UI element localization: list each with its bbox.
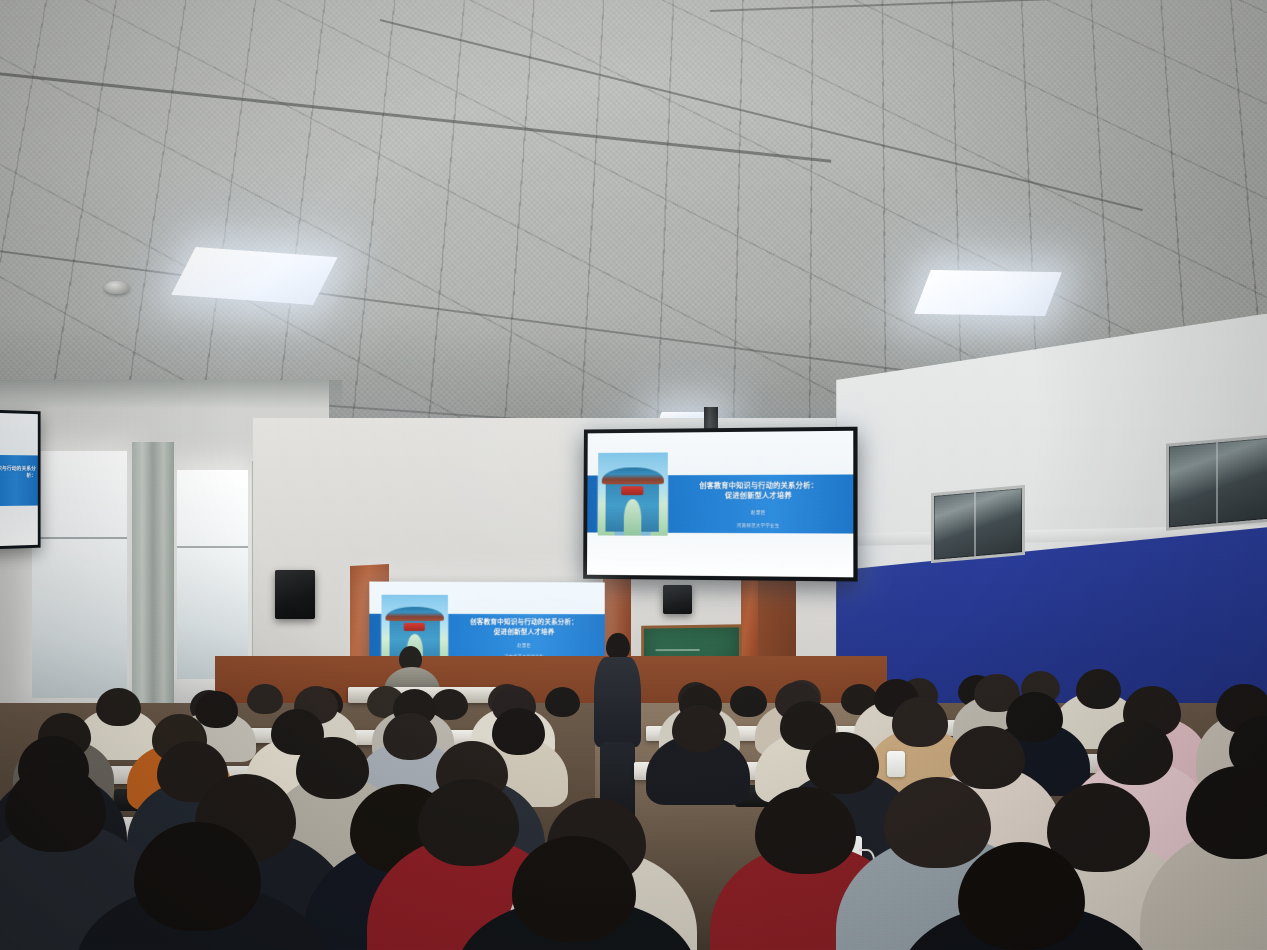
slide-title: 创客教育中知识与行动的关系分析： 促进创新型人才培养 bbox=[450, 619, 597, 637]
tv-bezel: 创客教育中知识与行动的关系分析： 促进创新型人才培养 赵慧臣 河南师范大学学业生 bbox=[583, 426, 858, 581]
slide-title: 创客教育中知识与行动的关系分析： 促进创新型人才培养 bbox=[673, 480, 845, 500]
audience-head bbox=[892, 697, 948, 746]
audience-head bbox=[730, 686, 767, 717]
chalk-writing bbox=[654, 649, 699, 651]
window-mullion bbox=[32, 537, 127, 539]
window bbox=[32, 451, 127, 698]
curtain bbox=[132, 442, 174, 708]
audience-head bbox=[492, 708, 545, 756]
slide-title-line2: 促进创新型人才培养 bbox=[494, 629, 555, 636]
slide-title-line1: 创客教育中知识与行动的关系分析： bbox=[0, 466, 36, 479]
slide-color-band bbox=[0, 455, 38, 506]
window bbox=[1166, 434, 1267, 531]
gate-sign bbox=[404, 623, 425, 631]
audience-head bbox=[884, 777, 990, 868]
window bbox=[931, 485, 1025, 563]
audience-head bbox=[545, 687, 580, 717]
audience-head bbox=[195, 691, 238, 728]
window-frame-shadow bbox=[0, 380, 342, 409]
audience-head bbox=[96, 688, 140, 726]
slide-author: 赵慧臣 bbox=[450, 643, 597, 649]
audience-head bbox=[958, 842, 1085, 950]
ceiling-light-panel bbox=[914, 270, 1062, 316]
ceiling-tv: 创客教育中知识与行动的关系分析： 促进创新型人才培养 赵慧臣 河南师范大学学业生 bbox=[580, 428, 856, 580]
audience-head bbox=[950, 726, 1025, 790]
slide-title-line1: 创客教育中知识与行动的关系分析： bbox=[700, 480, 819, 489]
audience-head bbox=[247, 684, 282, 714]
window-mullion bbox=[177, 546, 248, 548]
gate-archway bbox=[624, 498, 641, 534]
window bbox=[177, 470, 248, 679]
gate-sign bbox=[622, 485, 644, 494]
wall-speaker bbox=[663, 585, 692, 614]
thermos-cup bbox=[887, 751, 905, 778]
audience-head bbox=[1097, 720, 1173, 785]
lecture-hall-photo: 创客教育中知识与行动的关系分析： 促进创新型人才培养 赵慧臣 河南师范大学学业生 bbox=[0, 0, 1267, 950]
gate-roof bbox=[602, 467, 664, 484]
audience-head bbox=[672, 705, 726, 753]
slide-title: 创客教育中知识与行动的关系分析： bbox=[0, 466, 36, 480]
audience-head bbox=[1006, 692, 1063, 742]
audience-head bbox=[512, 836, 636, 942]
person-torso bbox=[594, 657, 641, 747]
slide-gate-photo bbox=[598, 452, 669, 535]
ceiling-light-panel bbox=[171, 247, 337, 305]
wall-speaker bbox=[275, 570, 316, 619]
audience-head bbox=[1076, 669, 1122, 709]
side-monitor: 创客教育中知识与行动的关系分析： bbox=[0, 409, 41, 550]
presentation-slide: 创客教育中知识与行动的关系分析： 促进创新型人才培养 赵慧臣 河南师范大学学业生 bbox=[587, 430, 854, 577]
presentation-slide: 创客教育中知识与行动的关系分析： bbox=[0, 412, 38, 547]
slide-title-line2: 促进创新型人才培养 bbox=[725, 490, 792, 499]
slide-author: 赵慧臣 bbox=[673, 509, 845, 515]
gate-roof bbox=[385, 607, 444, 621]
audience-head bbox=[296, 737, 368, 799]
slide-title-line1: 创客教育中知识与行动的关系分析： bbox=[470, 620, 578, 627]
audience-head bbox=[383, 713, 437, 761]
slide-organization: 河南师范大学学业生 bbox=[673, 523, 845, 530]
tv-screen: 创客教育中知识与行动的关系分析： 促进创新型人才培养 赵慧臣 河南师范大学学业生 bbox=[587, 430, 854, 577]
